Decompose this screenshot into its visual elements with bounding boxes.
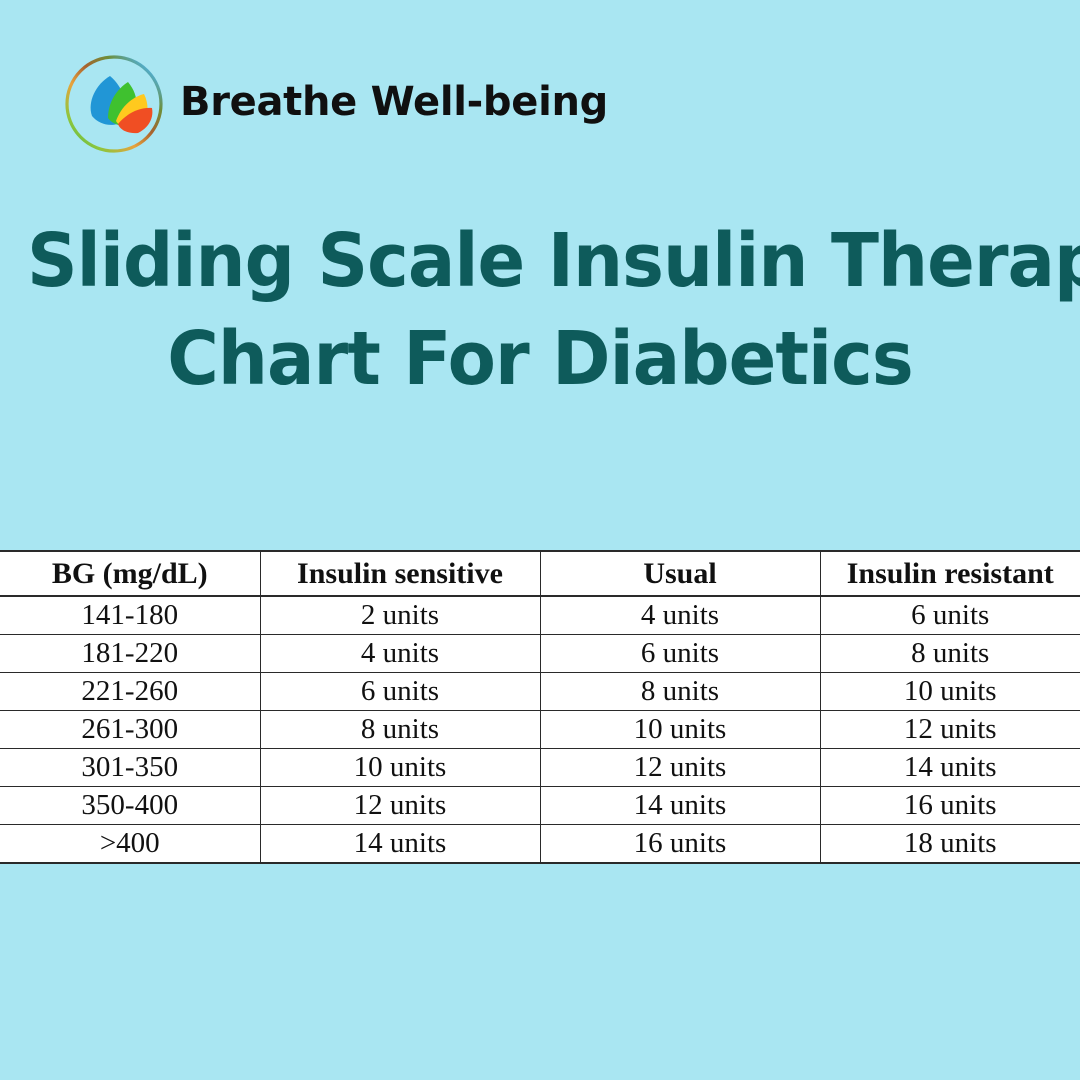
table-row: 301-350 10 units 12 units 14 units: [0, 749, 1080, 787]
brand-header: Breathe Well-being: [62, 52, 608, 156]
cell-insulin-sensitive: 10 units: [260, 749, 540, 787]
insulin-scale-table: BG (mg/dL) Insulin sensitive Usual Insul…: [0, 550, 1080, 864]
table-body: 141-180 2 units 4 units 6 units 181-220 …: [0, 596, 1080, 863]
cell-insulin-sensitive: 6 units: [260, 673, 540, 711]
cell-bg-range: >400: [0, 825, 260, 864]
cell-usual: 14 units: [540, 787, 820, 825]
column-header-usual: Usual: [540, 551, 820, 596]
cell-bg-range: 141-180: [0, 596, 260, 635]
cell-bg-range: 181-220: [0, 635, 260, 673]
breathe-wellbeing-logo-icon: [62, 52, 166, 156]
cell-insulin-sensitive: 8 units: [260, 711, 540, 749]
cell-bg-range: 261-300: [0, 711, 260, 749]
cell-usual: 10 units: [540, 711, 820, 749]
column-header-insulin-resistant: Insulin resistant: [820, 551, 1080, 596]
cell-insulin-sensitive: 14 units: [260, 825, 540, 864]
cell-usual: 8 units: [540, 673, 820, 711]
table-row: >400 14 units 16 units 18 units: [0, 825, 1080, 864]
cell-insulin-resistant: 8 units: [820, 635, 1080, 673]
table-header: BG (mg/dL) Insulin sensitive Usual Insul…: [0, 551, 1080, 596]
cell-bg-range: 301-350: [0, 749, 260, 787]
cell-insulin-resistant: 10 units: [820, 673, 1080, 711]
cell-insulin-resistant: 16 units: [820, 787, 1080, 825]
brand-name: Breathe Well-being: [180, 82, 608, 126]
cell-insulin-sensitive: 2 units: [260, 596, 540, 635]
cell-usual: 6 units: [540, 635, 820, 673]
poster-canvas: Breathe Well-being Sliding Scale Insulin…: [0, 0, 1080, 1080]
cell-insulin-sensitive: 12 units: [260, 787, 540, 825]
cell-bg-range: 221-260: [0, 673, 260, 711]
cell-insulin-resistant: 14 units: [820, 749, 1080, 787]
table-row: 350-400 12 units 14 units 16 units: [0, 787, 1080, 825]
page-title: Sliding Scale Insulin Therapy Chart For …: [27, 212, 1053, 408]
table-row: 221-260 6 units 8 units 10 units: [0, 673, 1080, 711]
cell-usual: 4 units: [540, 596, 820, 635]
insulin-scale-table-container: BG (mg/dL) Insulin sensitive Usual Insul…: [0, 550, 1080, 864]
cell-bg-range: 350-400: [0, 787, 260, 825]
table-row: 181-220 4 units 6 units 8 units: [0, 635, 1080, 673]
table-row: 141-180 2 units 4 units 6 units: [0, 596, 1080, 635]
column-header-bg: BG (mg/dL): [0, 551, 260, 596]
page-title-line-2: Chart For Diabetics: [27, 310, 1053, 408]
table-header-row: BG (mg/dL) Insulin sensitive Usual Insul…: [0, 551, 1080, 596]
page-title-line-1: Sliding Scale Insulin Therapy: [27, 212, 1053, 310]
cell-insulin-resistant: 12 units: [820, 711, 1080, 749]
cell-usual: 12 units: [540, 749, 820, 787]
table-row: 261-300 8 units 10 units 12 units: [0, 711, 1080, 749]
cell-insulin-resistant: 6 units: [820, 596, 1080, 635]
cell-usual: 16 units: [540, 825, 820, 864]
column-header-insulin-sensitive: Insulin sensitive: [260, 551, 540, 596]
cell-insulin-sensitive: 4 units: [260, 635, 540, 673]
cell-insulin-resistant: 18 units: [820, 825, 1080, 864]
